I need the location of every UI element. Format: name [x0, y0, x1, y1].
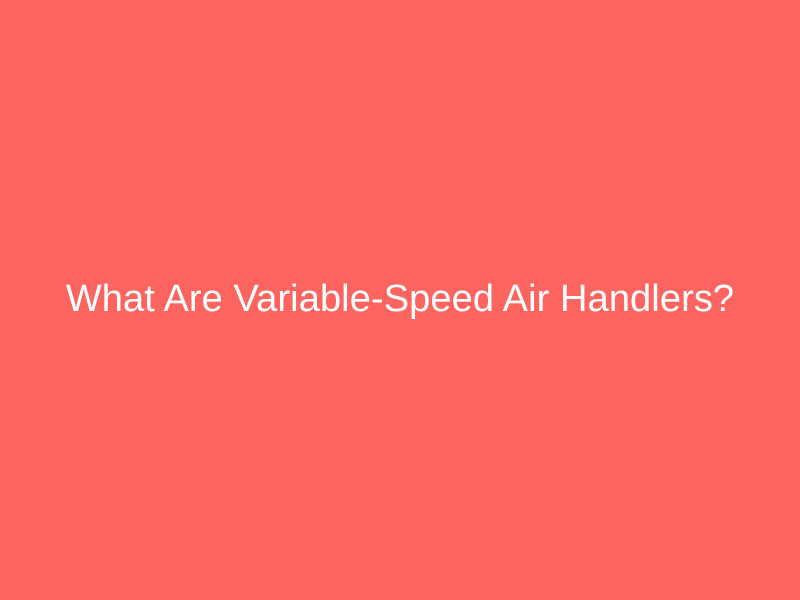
page-title: What Are Variable-Speed Air Handlers? — [50, 276, 750, 324]
share-card: What Are Variable-Speed Air Handlers? — [0, 0, 800, 600]
